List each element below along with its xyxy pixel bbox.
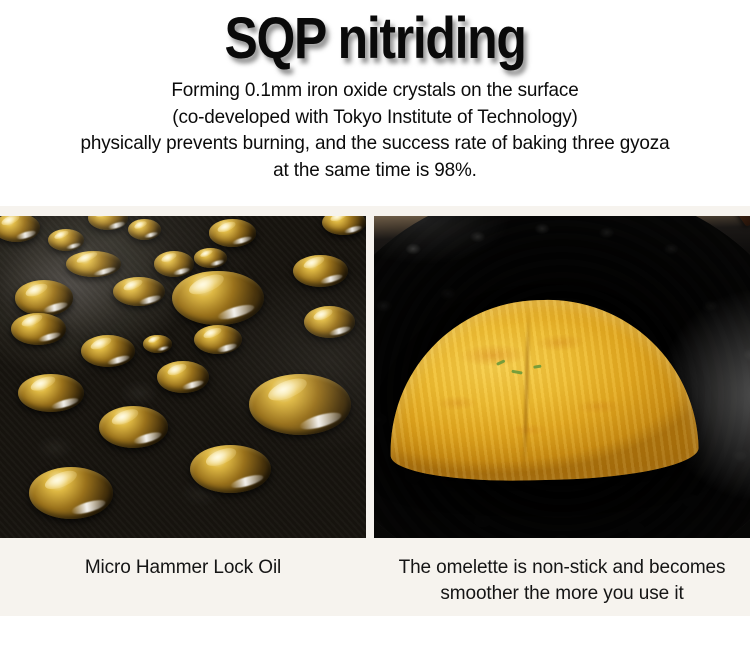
subtitle-line-4: at the same time is 98%. — [11, 157, 739, 184]
omelette-in-wok-photo — [374, 216, 750, 538]
promo-panel: SQP nitriding Forming 0.1mm iron oxide c… — [0, 0, 750, 648]
caption-left: Micro Hammer Lock Oil — [0, 538, 366, 581]
media-row — [0, 216, 750, 538]
caption-right: The omelette is non-stick and becomes sm… — [374, 538, 750, 607]
media-right — [374, 216, 750, 538]
caption-right-line-1: The omelette is non-stick and becomes — [374, 555, 750, 581]
header-section: SQP nitriding Forming 0.1mm iron oxide c… — [0, 0, 750, 206]
oil-droplets-photo — [0, 216, 366, 538]
media-left — [0, 216, 366, 538]
captions-row: Micro Hammer Lock Oil The omelette is no… — [0, 538, 750, 616]
pan-sheen-layer — [0, 216, 366, 538]
caption-right-line-2: smoother the more you use it — [374, 581, 750, 607]
footer-spacer — [0, 616, 750, 648]
subtitle-line-2: (co-developed with Tokyo Institute of Te… — [11, 104, 739, 131]
caption-left-line-1: Micro Hammer Lock Oil — [0, 555, 366, 581]
subtitle-line-1: Forming 0.1mm iron oxide crystals on the… — [11, 77, 739, 104]
page-title: SQP nitriding — [53, 0, 698, 70]
page-subtitle: Forming 0.1mm iron oxide crystals on the… — [11, 70, 739, 183]
subtitle-line-3: physically prevents burning, and the suc… — [11, 130, 739, 157]
